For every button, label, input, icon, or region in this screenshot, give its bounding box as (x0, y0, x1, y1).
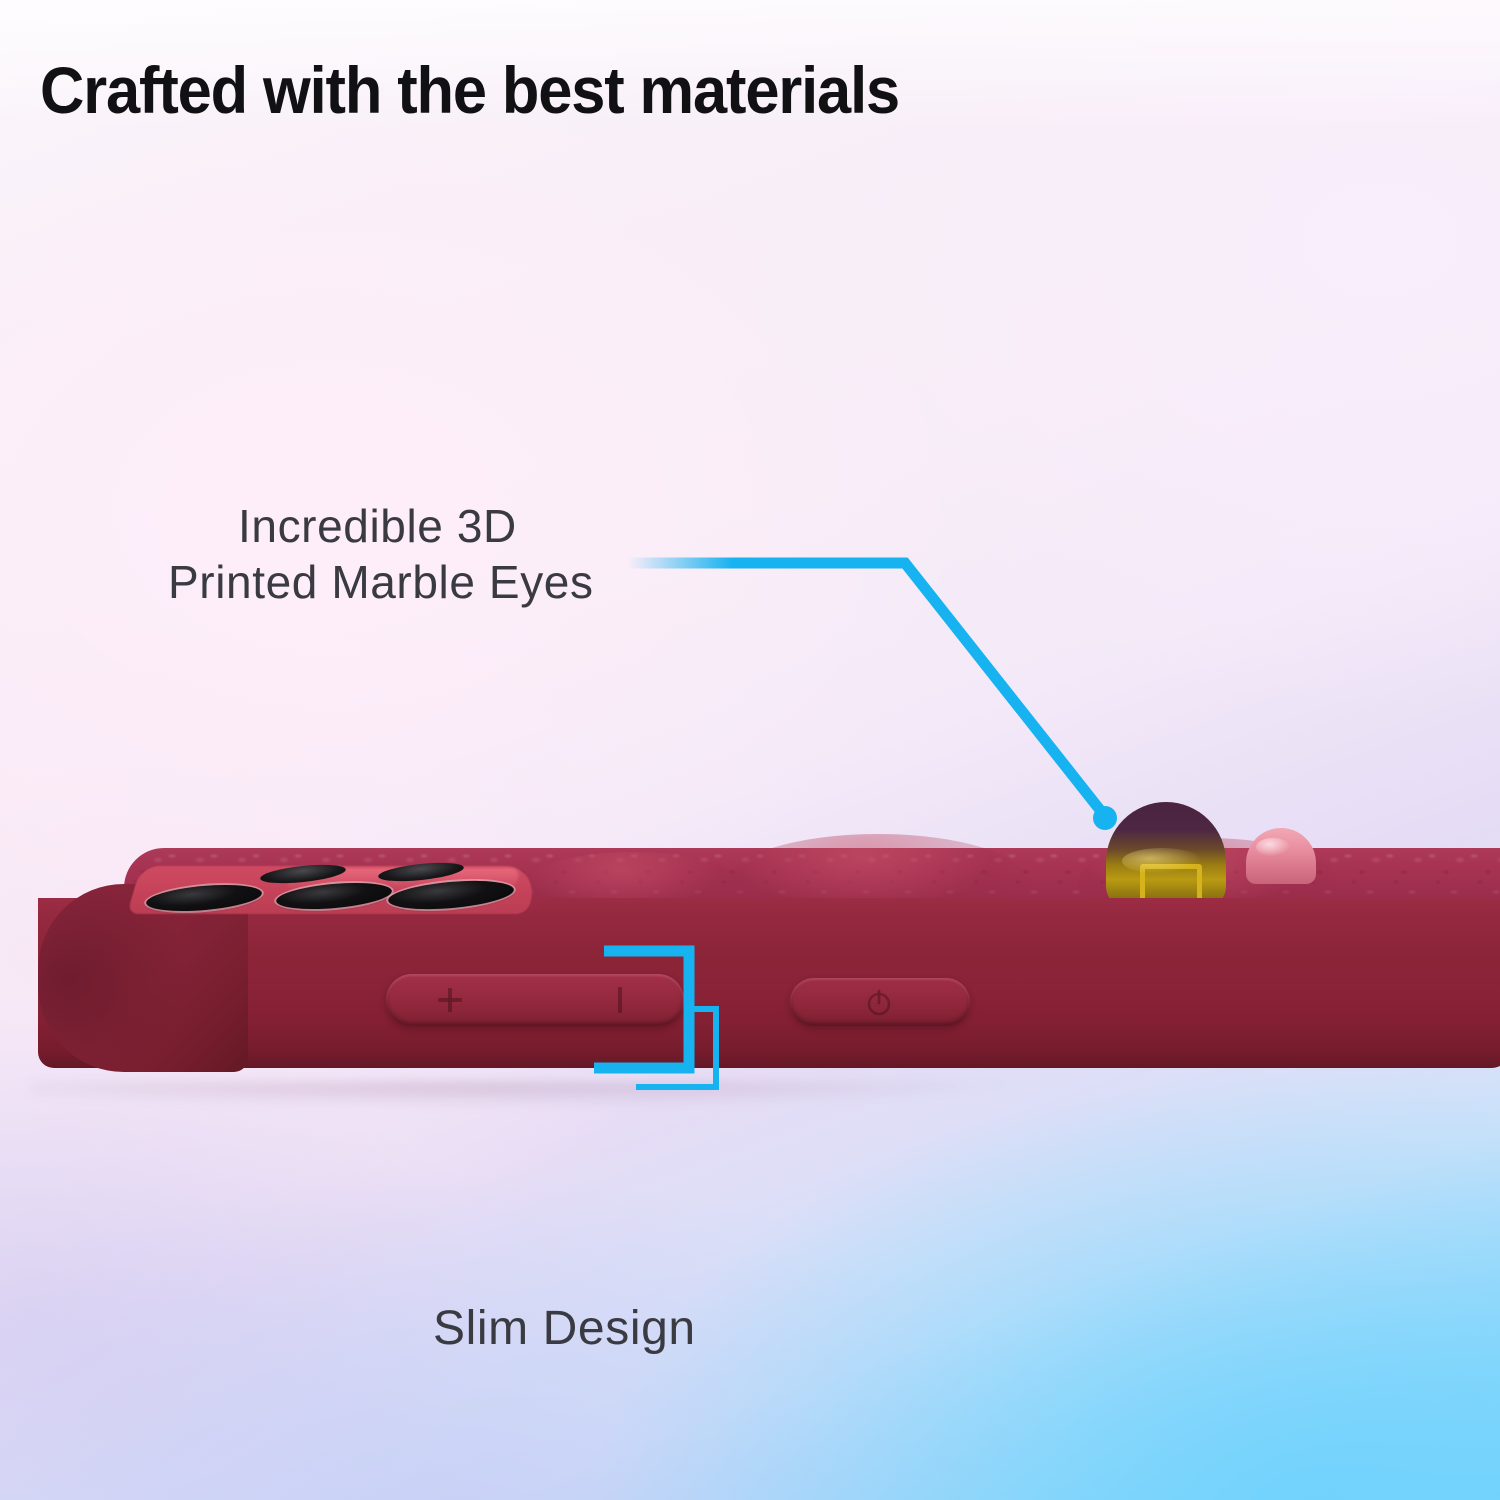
phone-case (38, 838, 1500, 1096)
marble-eye-gloss (1122, 848, 1202, 874)
power-icon (864, 988, 894, 1018)
volume-rocker-button[interactable] (386, 974, 684, 1026)
callout-line-1: Incredible 3D (238, 500, 517, 552)
background-cool-glow (0, 0, 1500, 1500)
callout-line-2: Printed Marble Eyes (168, 554, 594, 610)
page-title: Crafted with the best materials (40, 52, 899, 128)
power-button[interactable] (790, 978, 970, 1026)
marketing-image: Crafted with the best materials (0, 0, 1500, 1500)
callout-label-marble-eyes: Incredible 3D Printed Marble Eyes (238, 498, 594, 610)
nose-gloss (1256, 838, 1290, 856)
callout-label-slim-design: Slim Design (433, 1300, 696, 1359)
